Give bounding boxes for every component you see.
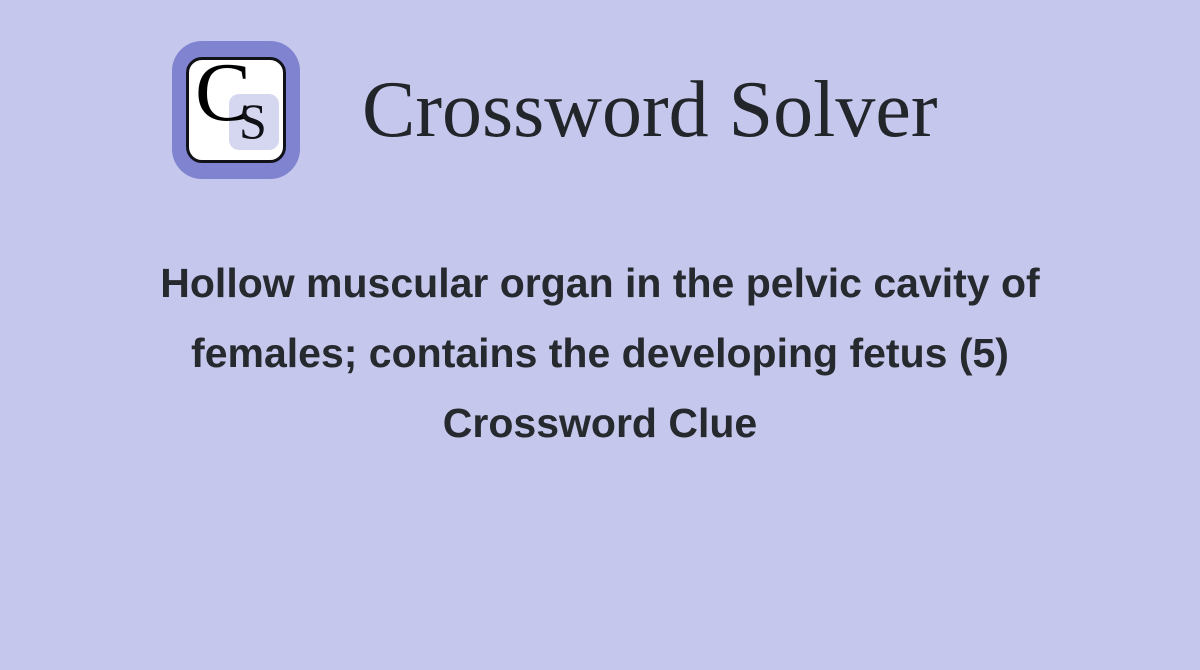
page-title: Hollow muscular organ in the pelvic cavi… bbox=[140, 248, 1060, 458]
page-root: C S Crossword Solver Hollow muscular org… bbox=[0, 0, 1200, 670]
site-title[interactable]: Crossword Solver bbox=[362, 70, 938, 150]
logo-inner-tile: C S bbox=[186, 57, 286, 163]
clue-container: Hollow muscular organ in the pelvic cavi… bbox=[100, 248, 1100, 458]
site-header: C S Crossword Solver bbox=[0, 40, 1200, 180]
crossword-solver-logo-icon[interactable]: C S bbox=[172, 41, 300, 179]
logo-letter-s: S bbox=[239, 96, 267, 146]
